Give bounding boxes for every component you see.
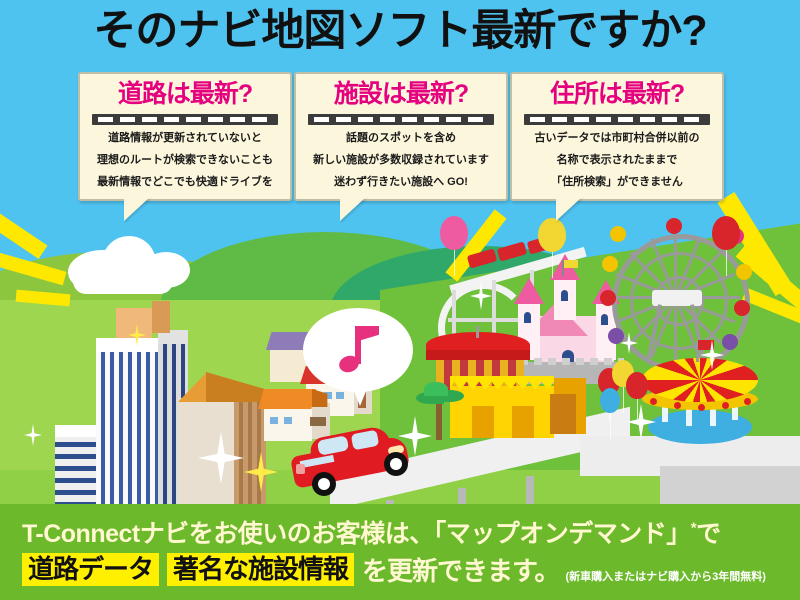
highlight-facility-info: 著名な施設情報	[167, 553, 354, 585]
music-note-icon	[337, 326, 381, 376]
road-divider-icon	[92, 114, 278, 125]
panel-line: 古いデータでは市町村合併以前の	[518, 131, 716, 147]
feature-panels: 道路は最新? 道路情報が更新されていないと 理想のルートが検索できないことも 最…	[0, 72, 800, 222]
panel-line: 話題のスポットを含め	[302, 131, 500, 147]
carousel	[640, 336, 780, 446]
panel-roads: 道路は最新? 道路情報が更新されていないと 理想のルートが検索できないことも 最…	[78, 72, 292, 201]
banner-line-1-tail: で	[696, 520, 721, 548]
office-tower	[96, 330, 188, 510]
yellow-pavilion	[450, 366, 600, 444]
panel-line: 迷わず行きたい施設へ GO!	[302, 175, 500, 191]
panel-line: 道路情報が更新されていないと	[86, 131, 284, 147]
panel-line: 新しい施設が多数収録されています	[302, 153, 500, 169]
panel-heading: 住所は最新?	[512, 82, 722, 107]
banner-line-1: T-Connectナビをお使いのお客様は、「マップオンデマンド」*で	[22, 514, 721, 550]
balloon	[538, 218, 566, 252]
road-divider-icon	[308, 114, 494, 125]
page-title: そのナビ地図ソフト最新ですか?	[0, 10, 800, 53]
panel-facilities: 施設は最新? 話題のスポットを含め 新しい施設が多数収録されています 迷わず行き…	[294, 72, 508, 201]
red-car	[288, 424, 418, 494]
bubble-tail	[556, 197, 582, 221]
bubble-tail	[124, 197, 150, 221]
palm-tree	[418, 376, 464, 440]
highlight-road-data: 道路データ	[22, 553, 159, 585]
panel-line: 「住所検索」ができません	[518, 175, 716, 191]
panel-line: 最新情報でどこでも快適ドライブを	[86, 175, 284, 191]
banner-line-2-tail: を更新できます。	[362, 551, 559, 588]
panel-heading: 施設は最新?	[296, 82, 506, 107]
road-divider-icon	[524, 114, 710, 125]
banner-footnote: (新車購入またはナビ購入から3年間無料)	[565, 568, 765, 584]
music-speech-bubble	[303, 308, 413, 402]
bottom-banner: T-Connectナビをお使いのお客様は、「マップオンデマンド」*で 道路データ…	[0, 504, 800, 600]
balloon	[600, 388, 620, 413]
panel-line: 名称で表示されたままで	[518, 153, 716, 169]
banner-line-1-text: T-Connectナビをお使いのお客様は、「マップオンデマンド」	[22, 520, 691, 548]
balloon	[626, 372, 648, 399]
bubble-tail	[340, 197, 366, 221]
banner-line-2: 道路データ 著名な施設情報 を更新できます。 (新車購入またはナビ購入から3年間…	[22, 551, 766, 588]
panel-heading: 道路は最新?	[80, 82, 290, 107]
panel-line: 理想のルートが検索できないことも	[86, 153, 284, 169]
advertisement-banner: そのナビ地図ソフト最新ですか? 道路は最新? 道路情報が更新されていないと 理想…	[0, 0, 800, 600]
panel-addresses: 住所は最新? 古いデータでは市町村合併以前の 名称で表示されたままで 「住所検索…	[510, 72, 724, 201]
